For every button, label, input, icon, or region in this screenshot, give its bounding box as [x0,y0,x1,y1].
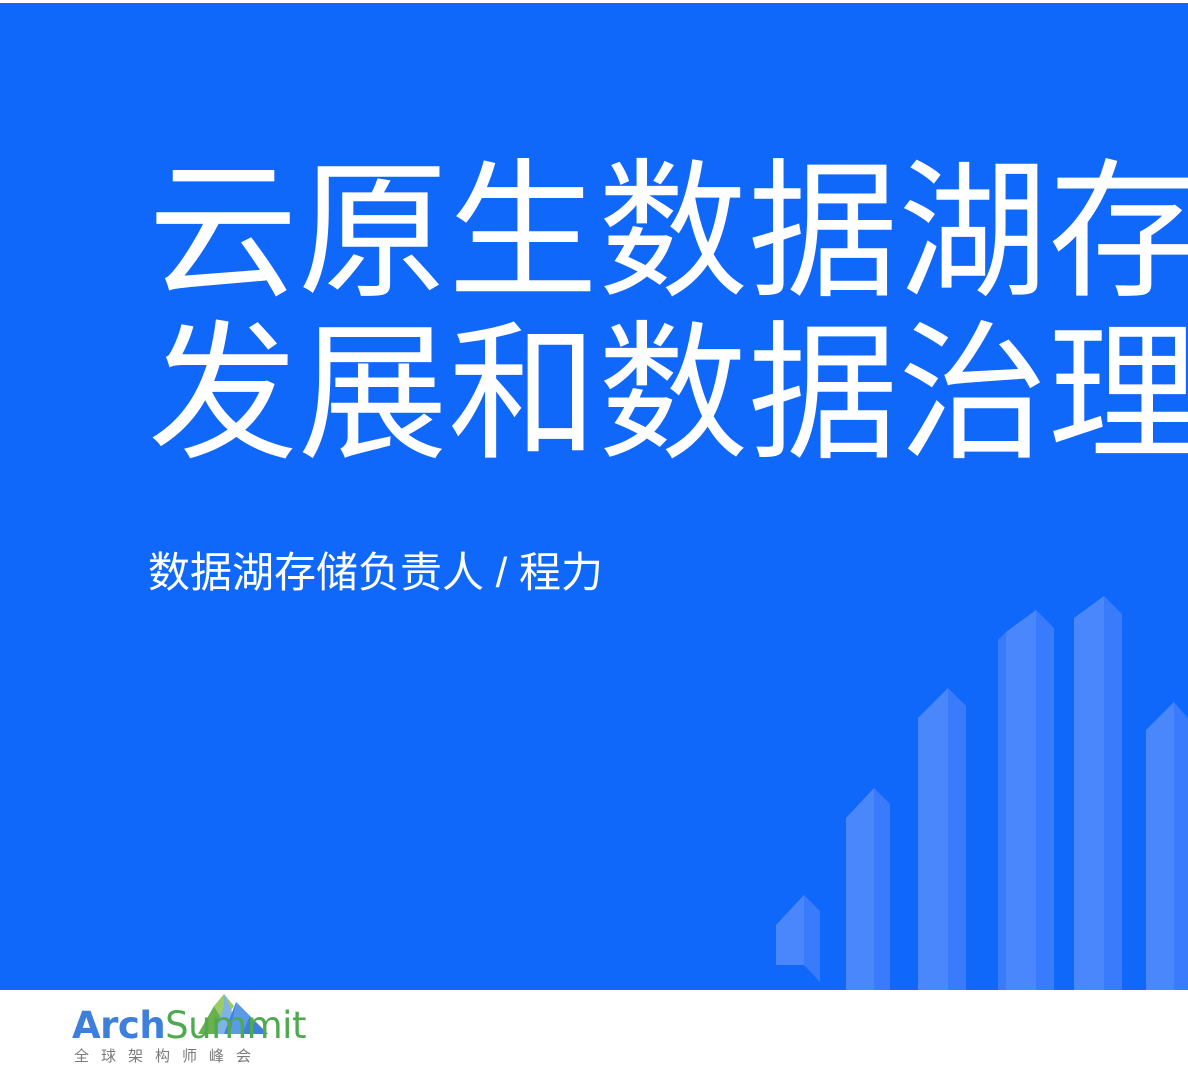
logo-wordmark: ArchSummit [72,1005,306,1047]
logo-word-summit: Summit [165,1004,306,1047]
logo-tagline: 全球架构师峰会 [74,1047,263,1067]
logo-word-arch: Arch [72,1004,165,1047]
title-line-1: 云原生数据湖存储 [148,151,1188,313]
archsummit-logo: ArchSummit 全球架构师峰会 [72,993,302,1075]
presentation-slide: 云原生数据湖存储 发展和数据治理 数据湖存储负责人 / 程力 ArchSummi… [0,0,1188,1080]
ascending-skyline-graphic [758,570,1188,990]
slide-footer: ArchSummit 全球架构师峰会 [0,990,1188,1080]
slide-title: 云原生数据湖存储 发展和数据治理 [148,151,1188,475]
hero-panel: 云原生数据湖存储 发展和数据治理 数据湖存储负责人 / 程力 [0,3,1188,990]
slide-subtitle-speaker: 数据湖存储负责人 / 程力 [148,546,603,600]
title-line-2: 发展和数据治理 [148,313,1188,475]
